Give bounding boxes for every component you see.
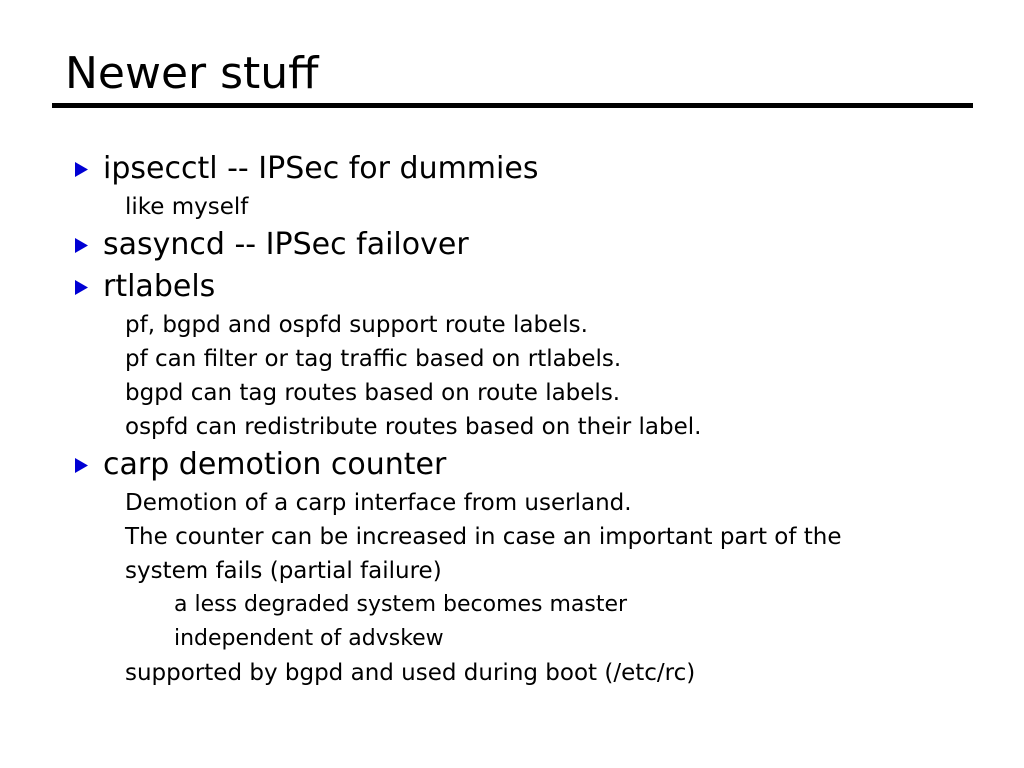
outline-item-level2: The counter can be increased in case an … xyxy=(0,520,1024,588)
outline-item-text: pf can filter or tag traffic based on rt… xyxy=(125,342,621,376)
outline-item-text: sasyncd -- IPSec failover xyxy=(103,224,469,265)
outline-item-level1: sasyncd -- IPSec failover xyxy=(0,224,1024,265)
outline-item-level1: ipsecctl -- IPSec for dummies xyxy=(0,148,1024,189)
outline-item-level3: independent of advskew xyxy=(0,622,1024,656)
triangle-right-bullet-icon xyxy=(74,444,103,473)
slide-body-outline: ipsecctl -- IPSec for dummies like mysel… xyxy=(0,148,1024,690)
outline-item-text: like myself xyxy=(125,190,248,224)
outline-item-text: carp demotion counter xyxy=(103,444,446,485)
triangle-right-bullet-icon xyxy=(74,148,103,177)
outline-item-level1: rtlabels xyxy=(0,266,1024,307)
outline-item-text: supported by bgpd and used during boot (… xyxy=(125,656,695,690)
outline-item-text: Demotion of a carp interface from userla… xyxy=(125,486,632,520)
outline-item-text: a less degraded system becomes master xyxy=(174,588,627,622)
triangle-right-bullet-icon xyxy=(74,266,103,295)
outline-item-level2: bgpd can tag routes based on route label… xyxy=(0,376,1024,410)
outline-item-text: pf, bgpd and ospfd support route labels. xyxy=(125,308,588,342)
outline-item-level2: pf can filter or tag traffic based on rt… xyxy=(0,342,1024,376)
outline-item-text: bgpd can tag routes based on route label… xyxy=(125,376,620,410)
outline-item-level2: supported by bgpd and used during boot (… xyxy=(0,656,1024,690)
page-title: Newer stuff xyxy=(65,50,973,98)
outline-item-level2: like myself xyxy=(0,190,1024,224)
outline-item-text: rtlabels xyxy=(103,266,215,307)
outline-item-level2: pf, bgpd and ospfd support route labels. xyxy=(0,308,1024,342)
outline-item-text: ospfd can redistribute routes based on t… xyxy=(125,410,701,444)
slide-title-block: Newer stuff xyxy=(52,50,973,108)
presentation-slide: Newer stuff ipsecctl -- IPSec for dummie… xyxy=(0,0,1024,768)
outline-item-level2: ospfd can redistribute routes based on t… xyxy=(0,410,1024,444)
triangle-right-bullet-icon xyxy=(74,224,103,253)
outline-item-level1: carp demotion counter xyxy=(0,444,1024,485)
outline-item-text: independent of advskew xyxy=(174,622,444,656)
outline-item-level3: a less degraded system becomes master xyxy=(0,588,1024,622)
outline-item-text: The counter can be increased in case an … xyxy=(125,520,895,588)
title-underline-rule xyxy=(52,103,973,108)
outline-item-level2: Demotion of a carp interface from userla… xyxy=(0,486,1024,520)
outline-item-text: ipsecctl -- IPSec for dummies xyxy=(103,148,538,189)
